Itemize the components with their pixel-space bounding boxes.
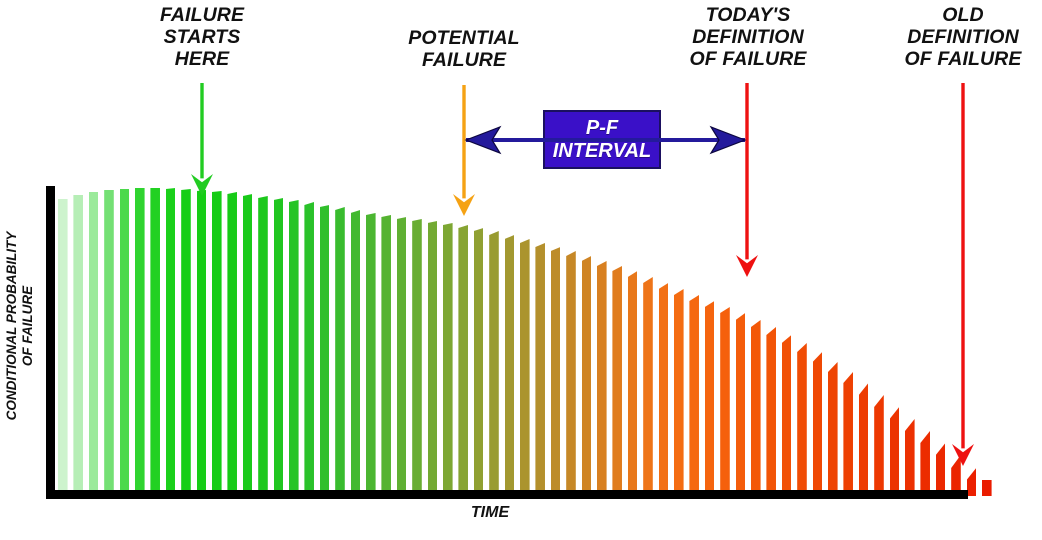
bar: [351, 210, 361, 496]
bar: [505, 235, 515, 496]
bar: [212, 191, 222, 496]
bar: [782, 335, 792, 496]
bar: [73, 195, 83, 496]
bar: [982, 480, 992, 496]
green-arrow: [191, 83, 213, 196]
bar: [674, 289, 684, 496]
bar: [135, 188, 145, 496]
bar: [443, 223, 453, 496]
pf-interval-box: P-F INTERVAL: [543, 110, 661, 169]
bar: [243, 194, 253, 496]
bar: [120, 189, 130, 496]
bar: [274, 198, 284, 496]
y-axis-line: [46, 186, 55, 498]
red-arrow-today: [736, 83, 758, 277]
bar: [890, 407, 900, 496]
bar: [828, 362, 838, 496]
bar: [304, 202, 314, 496]
bar: [705, 301, 715, 496]
bar: [566, 251, 576, 496]
red-arrow-old: [952, 83, 974, 466]
bar: [920, 431, 930, 496]
x-axis-label: TIME: [471, 504, 509, 522]
y-axis-label: CONDITIONAL PROBABILITY OF FAILURE: [4, 176, 36, 476]
bar: [89, 192, 99, 496]
orange-arrow: [453, 85, 475, 216]
bar: [643, 277, 653, 496]
bar: [736, 313, 746, 496]
bar: [104, 190, 114, 496]
bar: [967, 468, 977, 496]
bar: [520, 239, 530, 496]
bar: [320, 205, 330, 496]
bar: [335, 207, 345, 496]
bar: [181, 189, 191, 496]
bar: [905, 419, 915, 496]
bar: [58, 199, 68, 496]
bar: [412, 219, 422, 496]
bar: [659, 283, 669, 496]
bar: [936, 443, 946, 496]
bar: [150, 188, 160, 496]
bar: [474, 228, 484, 496]
bar: [289, 200, 299, 496]
bar: [227, 192, 237, 496]
bar: [797, 343, 807, 496]
bar: [720, 307, 730, 496]
bar: [597, 261, 607, 496]
callout-todays-definition-of-failure: TODAY'S DEFINITION OF FAILURE: [643, 4, 853, 70]
bar: [859, 383, 869, 496]
callout-potential-failure: POTENTIAL FAILURE: [364, 27, 564, 71]
bar: [689, 295, 699, 496]
bar: [751, 320, 761, 496]
bar: [489, 231, 499, 496]
bar: [874, 395, 884, 496]
pf-curve-diagram: CONDITIONAL PROBABILITY OF FAILURE TIME …: [0, 0, 1042, 540]
bar: [458, 225, 468, 496]
bar: [628, 271, 638, 496]
bar: [843, 372, 853, 496]
callout-old-definition-of-failure: OLD DEFINITION OF FAILURE: [863, 4, 1042, 70]
bar: [366, 213, 376, 496]
bar: [551, 247, 561, 496]
callout-failure-starts-here: FAILURE STARTS HERE: [107, 4, 297, 70]
bar: [258, 196, 268, 496]
bar: [428, 221, 438, 496]
bar: [582, 256, 592, 496]
bar: [166, 188, 176, 496]
x-axis-line: [46, 490, 968, 499]
bar: [612, 266, 622, 496]
bar: [535, 243, 545, 496]
bar: [813, 352, 823, 496]
bar: [197, 190, 207, 496]
bar: [381, 215, 391, 496]
bar: [766, 327, 776, 496]
bar: [397, 217, 407, 496]
